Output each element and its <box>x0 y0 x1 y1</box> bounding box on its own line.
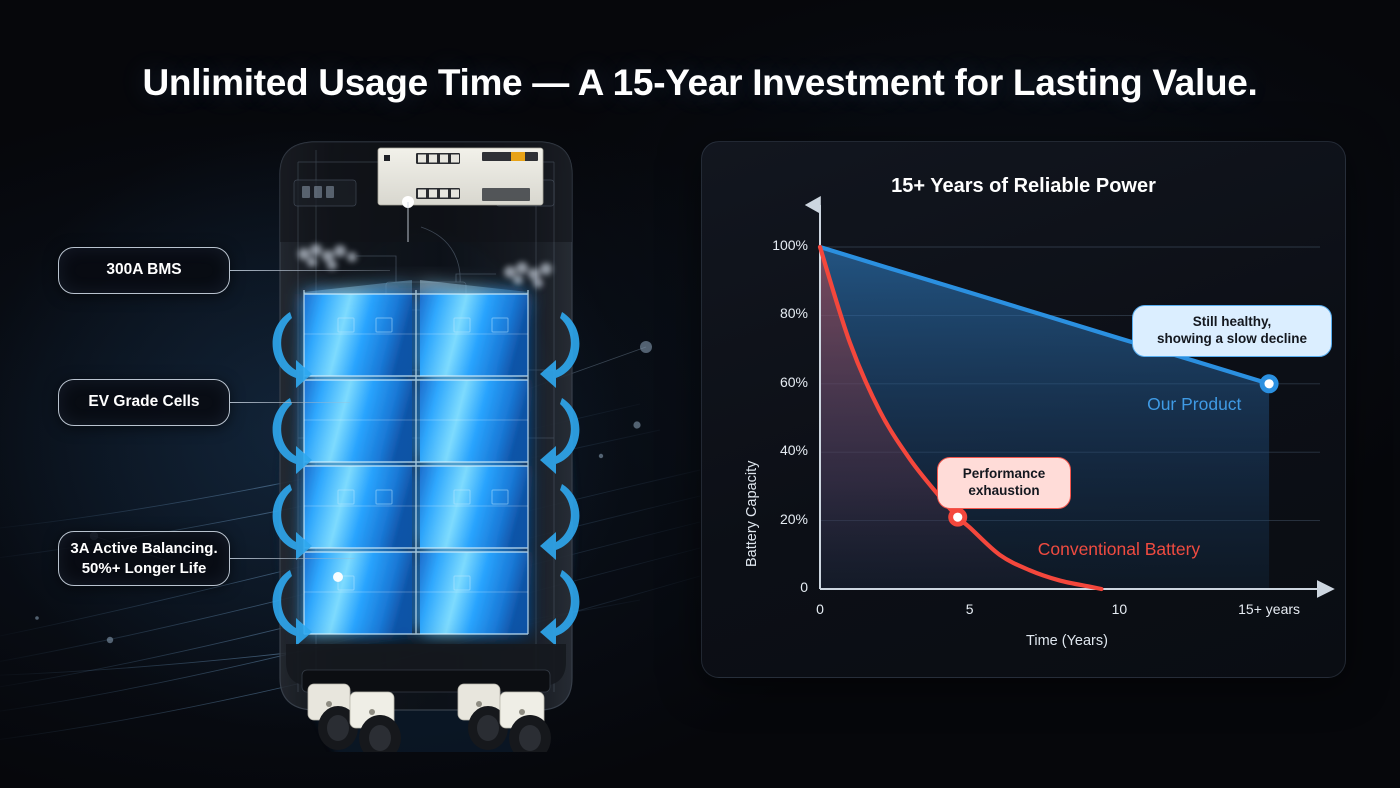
x-axis-title: Time (Years) <box>1026 633 1108 649</box>
callout-label: 300A BMS <box>106 260 181 280</box>
y-tick-label: 40% <box>780 442 808 458</box>
y-axis-title: Battery Capacity <box>744 461 760 567</box>
annotation-performance-exhaustion: Performanceexhaustion <box>937 457 1071 509</box>
callout-leader-line <box>230 402 350 403</box>
y-tick-label: 100% <box>772 237 808 253</box>
callout-ev-grade-cells: EV Grade Cells <box>58 379 230 426</box>
x-tick-label: 10 <box>1112 601 1128 617</box>
callout-300a-bms: 300A BMS <box>58 247 230 294</box>
series-label-our-product: Our Product <box>1147 394 1241 415</box>
x-tick-label: 0 <box>816 601 824 617</box>
callout-label: EV Grade Cells <box>88 392 199 412</box>
battery-cabinet-image <box>246 122 606 752</box>
callout-active-balancing: 3A Active Balancing.50%+ Longer Life <box>58 531 230 586</box>
callout-leader-line <box>230 270 390 271</box>
y-tick-label: 0 <box>800 579 808 595</box>
callout-label: 3A Active Balancing.50%+ Longer Life <box>70 539 217 579</box>
callout-leader-line <box>230 558 355 559</box>
capacity-decline-chart <box>702 142 1347 679</box>
y-tick-label: 80% <box>780 305 808 321</box>
chart-panel: 15+ Years of Reliable Power <box>701 141 1346 678</box>
annotation-still-healthy: Still healthy,showing a slow decline <box>1132 305 1332 357</box>
y-tick-label: 60% <box>780 374 808 390</box>
page-title: Unlimited Usage Time — A 15-Year Investm… <box>0 62 1400 104</box>
series-label-conventional: Conventional Battery <box>1038 539 1200 560</box>
x-tick-label: 15+ years <box>1238 601 1300 617</box>
y-tick-label: 20% <box>780 511 808 527</box>
x-tick-label: 5 <box>966 601 974 617</box>
